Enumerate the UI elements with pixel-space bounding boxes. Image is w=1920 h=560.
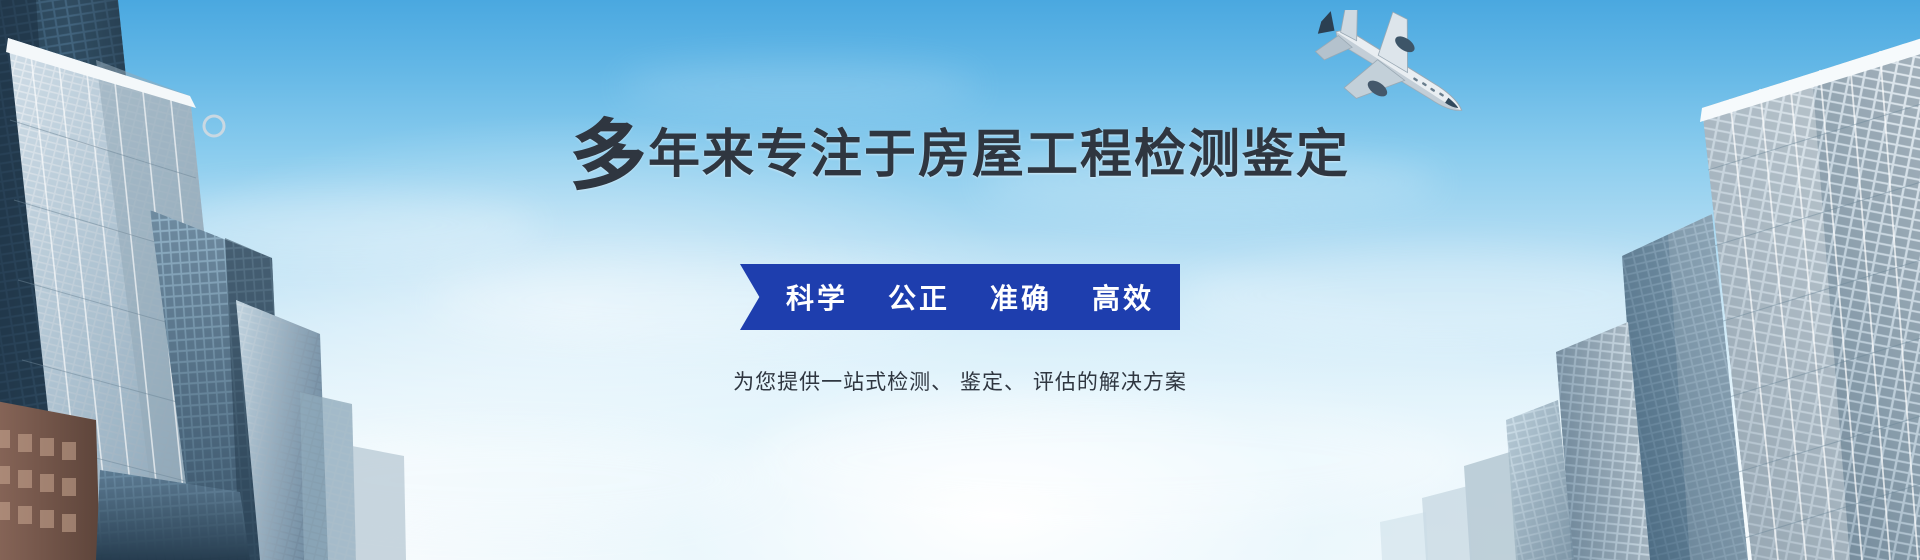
page-subtitle: 为您提供一站式检测、 鉴定、 评估的解决方案	[0, 366, 1920, 396]
keyword-list: 科学 公正 准确 高效	[786, 277, 1154, 317]
page-title: 多年来专注于房屋工程检测鉴定	[0, 116, 1920, 186]
banner-content: 多年来专注于房屋工程检测鉴定 科学 公正 准确 高效 为您提供一站式检测、 鉴定…	[0, 0, 1920, 560]
keyword-item: 准确	[990, 277, 1052, 317]
keyword-item: 科学	[786, 277, 848, 317]
keyword-item: 高效	[1092, 277, 1154, 317]
keywords-ribbon: 科学 公正 准确 高效	[0, 264, 1920, 330]
hero-banner: 多年来专注于房屋工程检测鉴定 科学 公正 准确 高效 为您提供一站式检测、 鉴定…	[0, 0, 1920, 560]
headline-lead-char: 多	[570, 114, 646, 199]
keyword-item: 公正	[888, 277, 950, 317]
headline-rest: 年来专注于房屋工程检测鉴定	[648, 126, 1350, 184]
ribbon-shape: 科学 公正 准确 高效	[740, 264, 1180, 330]
